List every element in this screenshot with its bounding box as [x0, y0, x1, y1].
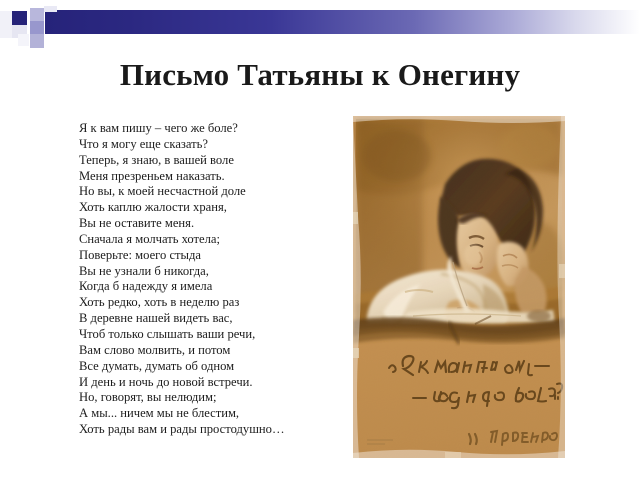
verse-line: Поверьте: моего стыда	[79, 248, 329, 264]
verse-line: Все думать, думать об одном	[79, 359, 329, 375]
verse-line: Сначала я молчать хотела;	[79, 232, 329, 248]
verse-line: Хоть редко, хоть в неделю раз	[79, 295, 329, 311]
verse-line: В деревне нашей видеть вас,	[79, 311, 329, 327]
page-title: Письмо Татьяны к Онегину	[0, 56, 640, 94]
decorative-square-navy	[12, 11, 27, 25]
decorative-square-pale-left	[0, 11, 12, 38]
decorative-square-mid	[30, 21, 44, 34]
header-gradient-bar	[45, 10, 640, 34]
verse-line: Вы не узнали б никогда,	[79, 264, 329, 280]
verse-line: Вам слово молвить, и потом	[79, 343, 329, 359]
verse-line: Теперь, я знаю, в вашей воле	[79, 153, 329, 169]
decorative-square-faint-top	[44, 6, 57, 12]
verse-line: Чтоб только слышать ваши речи,	[79, 327, 329, 343]
watercolour-artwork	[353, 116, 565, 458]
verse-line: Хоть каплю жалости храня,	[79, 200, 329, 216]
verse-line: Что я могу еще сказать?	[79, 137, 329, 153]
verse-line: Хоть рады вам и рады простодушно…	[79, 422, 329, 438]
header-decoration	[0, 0, 640, 50]
verse-line: Когда б надежду я имела	[79, 279, 329, 295]
decorative-square-faint-lower	[18, 34, 29, 46]
verse-line: А мы... ничем мы не блестим,	[79, 406, 329, 422]
verse-line: Но вы, к моей несчастной доле	[79, 184, 329, 200]
verse-line: И день и ночь до новой встречи.	[79, 375, 329, 391]
poem-text-block: Я к вам пишу – чего же боле? Что я могу …	[79, 121, 329, 438]
decorative-square-lavender-below	[30, 34, 44, 48]
verse-line: Я к вам пишу – чего же боле?	[79, 121, 329, 137]
verse-line: Вы не оставите меня.	[79, 216, 329, 232]
verse-line: Меня презреньем наказать.	[79, 169, 329, 185]
decorative-square-light-upper	[30, 8, 44, 21]
illustration-tatyana-writing	[353, 116, 565, 458]
verse-line: Но, говорят, вы нелюдим;	[79, 390, 329, 406]
